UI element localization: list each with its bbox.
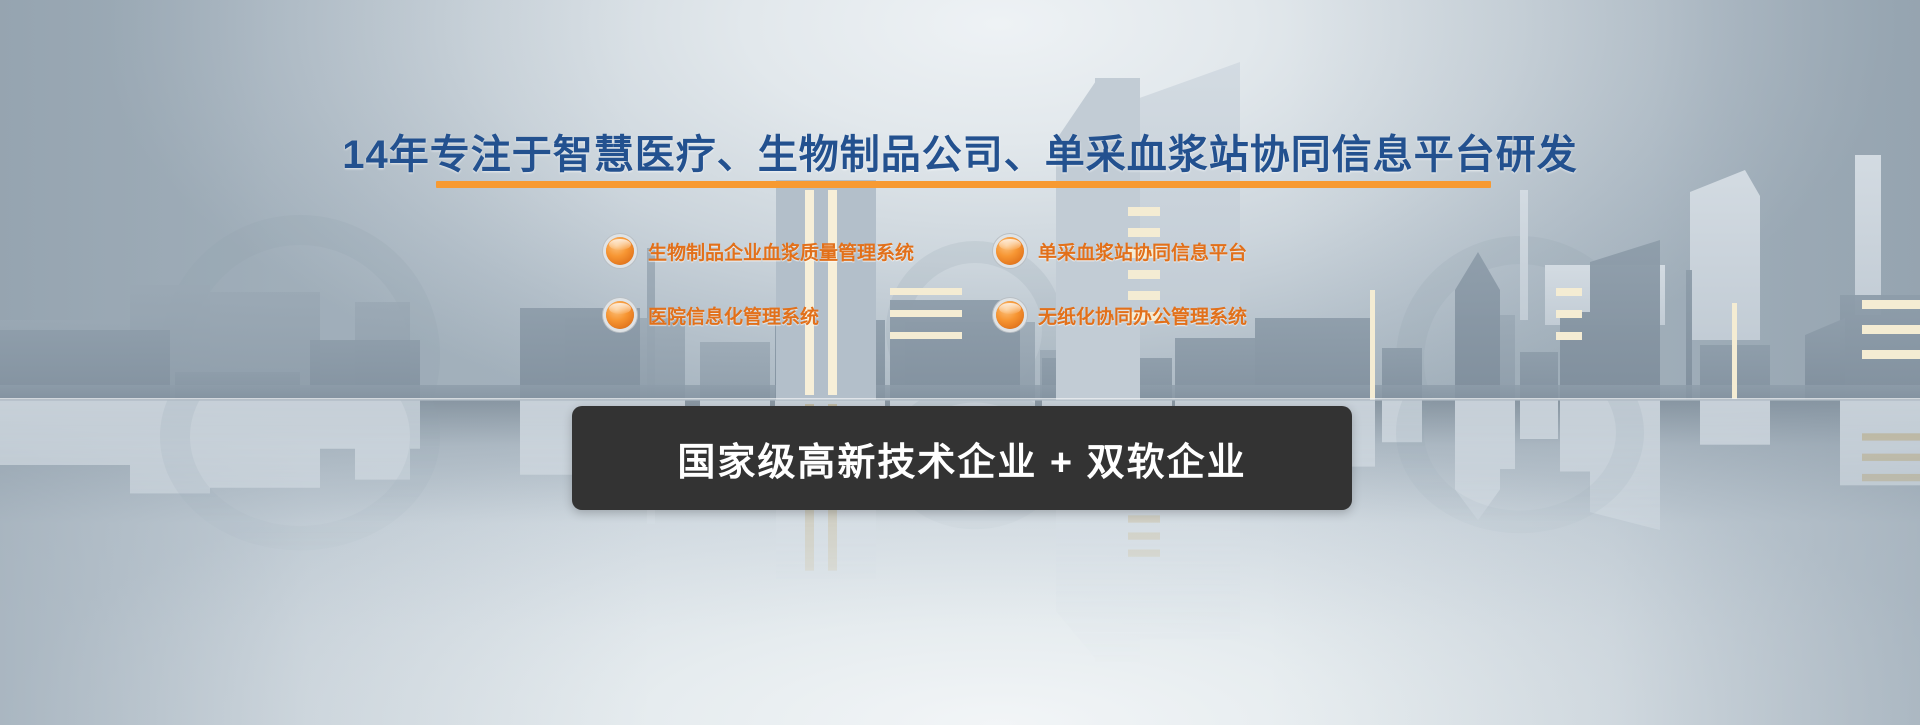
feature-label: 单采血浆站协同信息平台 [1038,238,1247,265]
orange-dot-icon [606,301,634,329]
feature-label: 生物制品企业血浆质量管理系统 [648,238,914,265]
feature-list: 生物制品企业血浆质量管理系统 单采血浆站协同信息平台 医院信息化管理系统 无纸化… [606,228,1346,338]
feature-label: 无纸化协同办公管理系统 [1038,302,1247,329]
hero-banner: 14年专注于智慧医疗、生物制品公司、单采血浆站协同信息平台研发 生物制品企业血浆… [0,0,1920,725]
orange-dot-icon [996,301,1024,329]
page-title: 14年专注于智慧医疗、生物制品公司、单采血浆站协同信息平台研发 [0,122,1920,180]
orange-dot-icon [606,237,634,265]
feature-item-plasma-quality[interactable]: 生物制品企业血浆质量管理系统 [606,228,996,274]
feature-row-2: 医院信息化管理系统 无纸化协同办公管理系统 [606,292,1346,338]
slogan-panel: 国家级高新技术企业 + 双软企业 [572,406,1352,510]
title-underline-rule [436,181,1491,188]
feature-label: 医院信息化管理系统 [648,302,819,329]
feature-item-hospital-info[interactable]: 医院信息化管理系统 [606,292,996,338]
slogan-text: 国家级高新技术企业 + 双软企业 [677,431,1246,486]
feature-item-plasma-station[interactable]: 单采血浆站协同信息平台 [996,228,1346,274]
feature-row-1: 生物制品企业血浆质量管理系统 单采血浆站协同信息平台 [606,228,1346,274]
orange-dot-icon [996,237,1024,265]
feature-item-paperless-oa[interactable]: 无纸化协同办公管理系统 [996,292,1346,338]
